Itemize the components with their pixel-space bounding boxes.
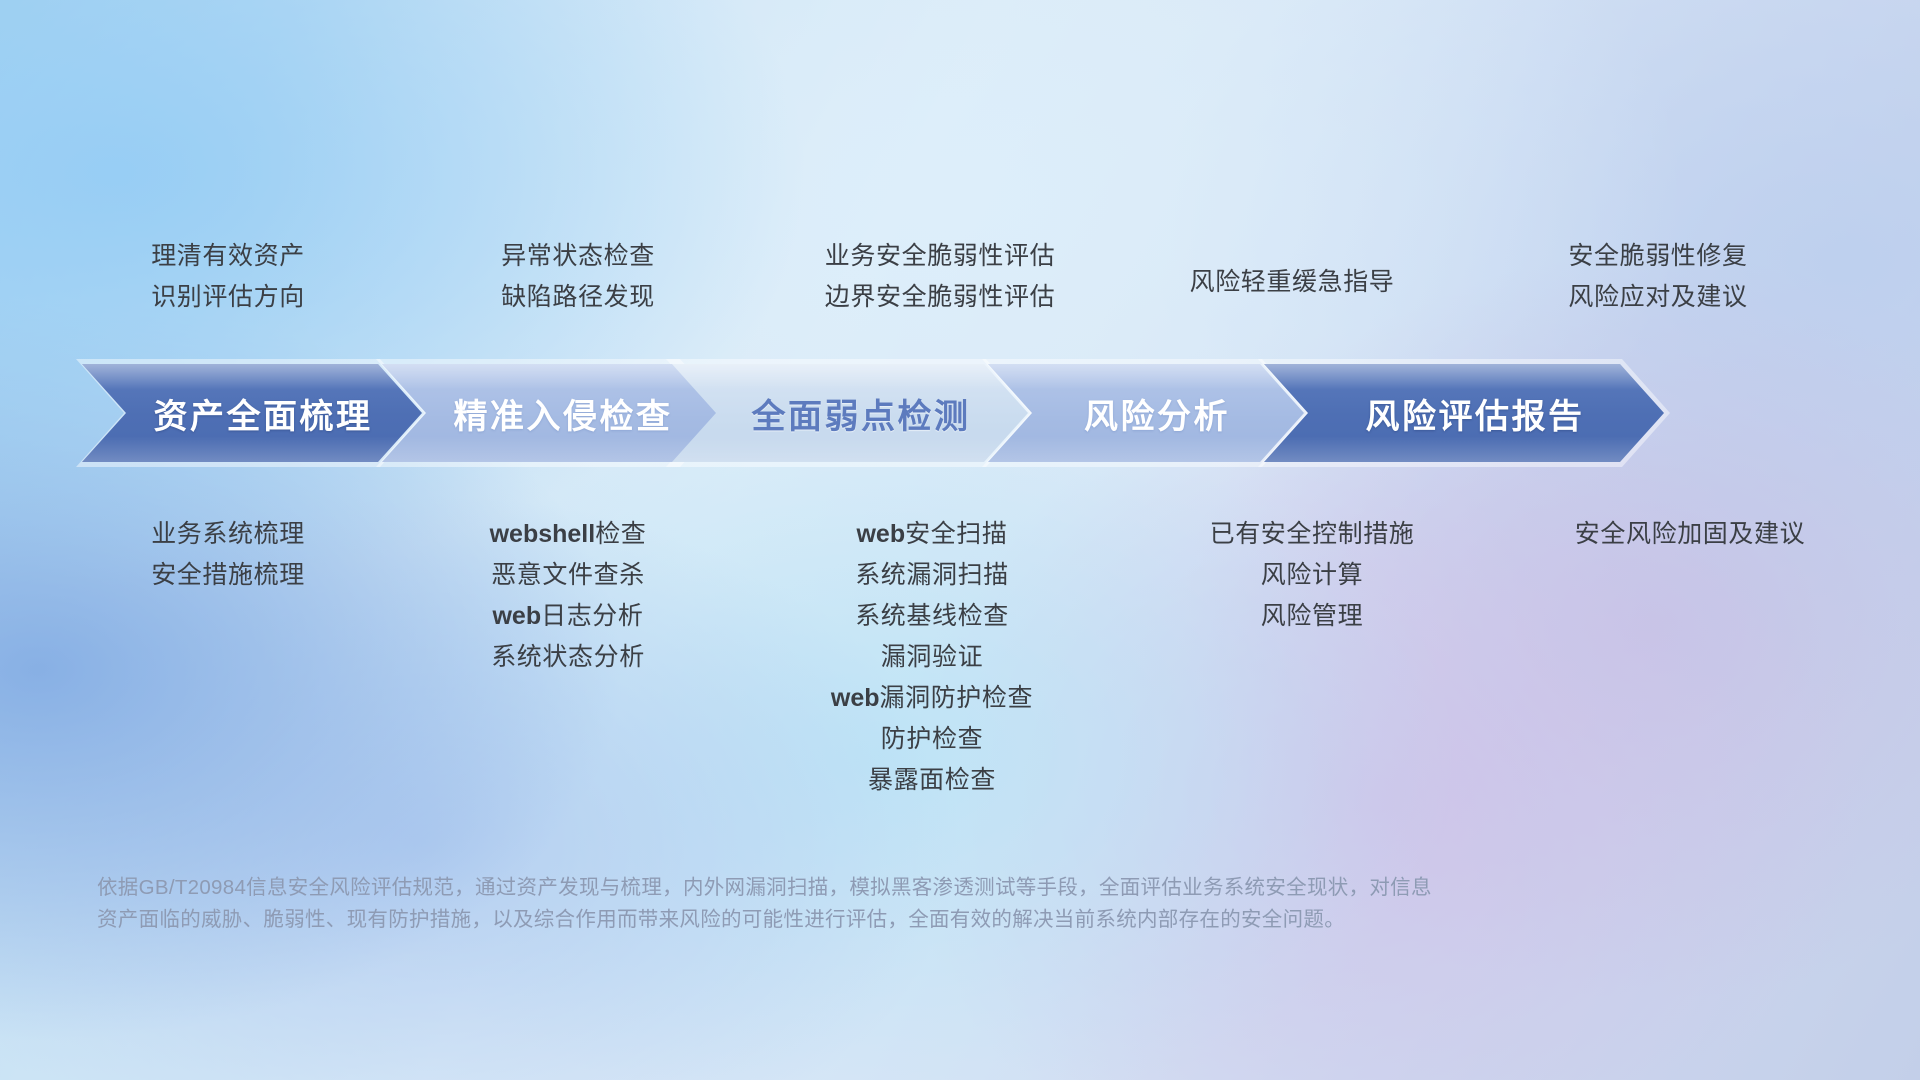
flow-stage-4[interactable]: 风险分析 bbox=[988, 364, 1304, 462]
caption-cjk-token: 暴露面检查 bbox=[868, 766, 996, 794]
top-caption-item: 业务安全脆弱性评估 bbox=[825, 236, 1055, 277]
bottom-caption-item: 暴露面检查 bbox=[868, 760, 996, 801]
bottom-caption-item: 业务系统梳理 bbox=[151, 514, 305, 555]
flow-stage-3[interactable]: 全面弱点检测 bbox=[672, 364, 1028, 462]
caption-cjk-token: 漏洞验证 bbox=[881, 643, 983, 671]
caption-cjk-token: 恶意文件查杀 bbox=[491, 561, 645, 589]
bottom-caption-item: 漏洞验证 bbox=[881, 637, 983, 678]
flow-stage-2[interactable]: 精准入侵检查 bbox=[382, 364, 722, 462]
top-caption-item: 异常状态检查 bbox=[501, 236, 655, 277]
flow-stage-1[interactable]: 资产全面梳理 bbox=[82, 364, 422, 462]
top-caption-column-5: 安全脆弱性修复风险应对及建议 bbox=[1408, 236, 1908, 318]
caption-cjk-token: 系统漏洞扫描 bbox=[855, 561, 1009, 589]
bottom-caption-item: webshell检查 bbox=[490, 514, 647, 555]
flow-stage-5[interactable]: 风险评估报告 bbox=[1264, 364, 1664, 462]
bottom-caption-item: 风险管理 bbox=[1261, 596, 1363, 637]
caption-cjk-token: 防护检查 bbox=[881, 725, 983, 753]
caption-cjk-token: 漏洞防护检查 bbox=[880, 684, 1034, 712]
caption-latin-token: webshell bbox=[490, 520, 596, 548]
footer-description: 依据GB/T20984信息安全风险评估规范，通过资产发现与梳理，内外网漏洞扫描，… bbox=[97, 872, 1737, 937]
flow-stage-label: 风险评估报告 bbox=[1344, 389, 1585, 438]
top-caption-item: 安全脆弱性修复 bbox=[1568, 236, 1747, 277]
bottom-caption-item: web漏洞防护检查 bbox=[831, 678, 1033, 719]
bottom-caption-item: 系统漏洞扫描 bbox=[855, 555, 1009, 596]
top-caption-item: 风险轻重缓急指导 bbox=[1190, 262, 1395, 303]
bottom-caption-item: 安全风险加固及建议 bbox=[1575, 514, 1805, 555]
bottom-caption-item: 风险计算 bbox=[1261, 555, 1363, 596]
caption-cjk-token: 检查 bbox=[595, 520, 646, 548]
bottom-caption-item: 系统状态分析 bbox=[491, 637, 645, 678]
caption-cjk-token: 日志分析 bbox=[541, 602, 643, 630]
caption-cjk-token: 安全风险加固及建议 bbox=[1575, 520, 1805, 548]
bottom-caption-item: web日志分析 bbox=[492, 596, 643, 637]
top-caption-item: 缺陷路径发现 bbox=[501, 277, 655, 318]
caption-cjk-token: 系统基线检查 bbox=[855, 602, 1009, 630]
caption-cjk-token: 业务系统梳理 bbox=[151, 520, 305, 548]
process-flow-bar: 资产全面梳理精准入侵检查全面弱点检测风险分析风险评估报告 bbox=[0, 364, 1920, 462]
bottom-caption-item: 恶意文件查杀 bbox=[491, 555, 645, 596]
footer-line-2: 资产面临的威胁、脆弱性、现有防护措施，以及综合作用而带来风险的可能性进行评估，全… bbox=[97, 904, 1737, 936]
caption-cjk-token: 系统状态分析 bbox=[491, 643, 645, 671]
bottom-caption-item: 系统基线检查 bbox=[855, 596, 1009, 637]
flow-stage-label: 资产全面梳理 bbox=[132, 389, 373, 438]
bottom-caption-item: 安全措施梳理 bbox=[151, 555, 305, 596]
caption-cjk-token: 已有安全控制措施 bbox=[1210, 520, 1415, 548]
bottom-caption-item: 防护检查 bbox=[881, 719, 983, 760]
bottom-caption-item: 已有安全控制措施 bbox=[1210, 514, 1415, 555]
flow-stage-label: 精准入侵检查 bbox=[432, 389, 673, 438]
bottom-caption-item: web安全扫描 bbox=[856, 514, 1007, 555]
caption-latin-token: web bbox=[831, 684, 880, 712]
infographic-canvas: 理清有效资产识别评估方向异常状态检查缺陷路径发现业务安全脆弱性评估边界安全脆弱性… bbox=[0, 0, 1920, 1080]
footer-line-1: 依据GB/T20984信息安全风险评估规范，通过资产发现与梳理，内外网漏洞扫描，… bbox=[97, 872, 1737, 904]
top-caption-item: 理清有效资产 bbox=[151, 236, 305, 277]
top-caption-item: 风险应对及建议 bbox=[1568, 277, 1747, 318]
caption-cjk-token: 风险计算 bbox=[1261, 561, 1363, 589]
top-caption-item: 识别评估方向 bbox=[151, 277, 305, 318]
flow-stage-label: 风险分析 bbox=[1062, 389, 1230, 438]
top-caption-item: 边界安全脆弱性评估 bbox=[825, 277, 1055, 318]
bottom-caption-column-5: 安全风险加固及建议 bbox=[1440, 514, 1920, 555]
caption-cjk-token: 风险管理 bbox=[1261, 602, 1363, 630]
caption-latin-token: web bbox=[856, 520, 905, 548]
caption-cjk-token: 安全扫描 bbox=[905, 520, 1007, 548]
caption-latin-token: web bbox=[492, 602, 541, 630]
caption-cjk-token: 安全措施梳理 bbox=[151, 561, 305, 589]
flow-stage-label: 全面弱点检测 bbox=[730, 389, 971, 438]
